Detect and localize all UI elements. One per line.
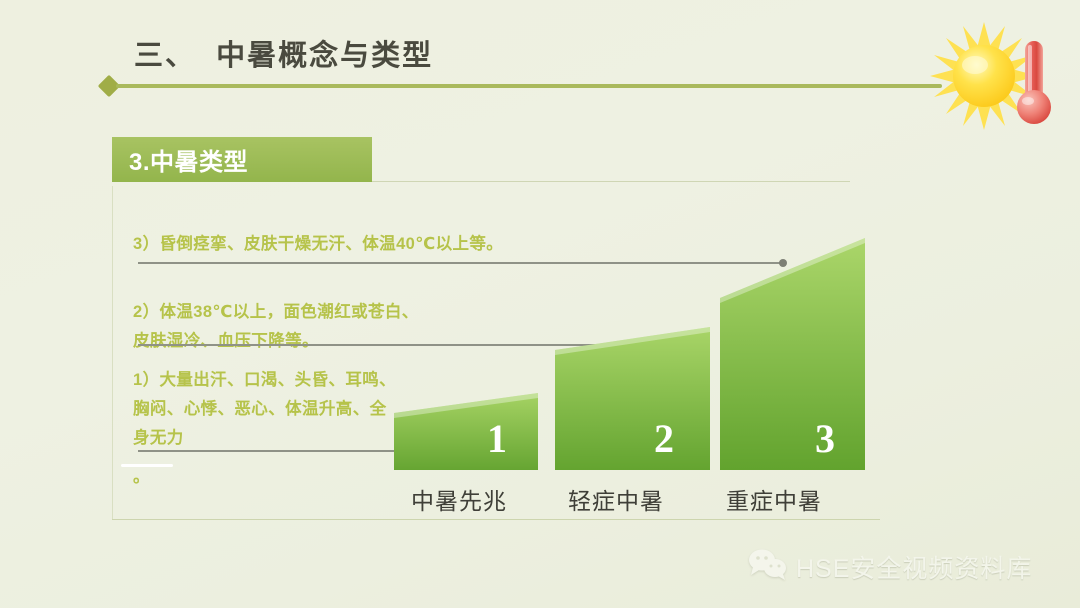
- content-bottom-border: [112, 519, 880, 520]
- bar-value-1: 1: [487, 415, 507, 462]
- watermark-text: HSE安全视频资料库: [796, 549, 1032, 585]
- wechat-icon: [748, 548, 788, 585]
- bar-category-label-1: 中暑先兆: [411, 482, 507, 516]
- sun-thermometer-icon: [928, 22, 1058, 134]
- section-header-divider: [372, 181, 850, 182]
- bullet-text-1-tail: 。: [133, 463, 150, 487]
- content-left-border: [112, 186, 113, 520]
- bar-category-label-2: 轻症中暑: [568, 482, 664, 516]
- section-header-label: 3.中暑类型: [112, 142, 248, 177]
- page-title: 三、 中暑概念与类型: [134, 32, 433, 74]
- title-divider: [116, 84, 942, 88]
- slide-root: 三、 中暑概念与类型: [0, 0, 1080, 608]
- bar-value-3: 3: [815, 415, 835, 462]
- leader-line-1: [138, 450, 412, 452]
- watermark: HSE安全视频资料库: [748, 548, 1032, 585]
- staircase-bar-chart: [390, 230, 880, 475]
- section-header-chip: 3.中暑类型: [112, 137, 372, 182]
- bullet-text-1: 1）大量出汗、口渴、头昏、耳鸣、胸闷、心悸、恶心、体温升高、全身无力: [133, 366, 403, 453]
- bar-value-2: 2: [654, 415, 674, 462]
- bar-category-label-3: 重症中暑: [726, 482, 822, 516]
- bullet-text-2: 2）体温38℃以上，面色潮红或苍白、皮肤湿冷、血压下降等。: [133, 298, 423, 356]
